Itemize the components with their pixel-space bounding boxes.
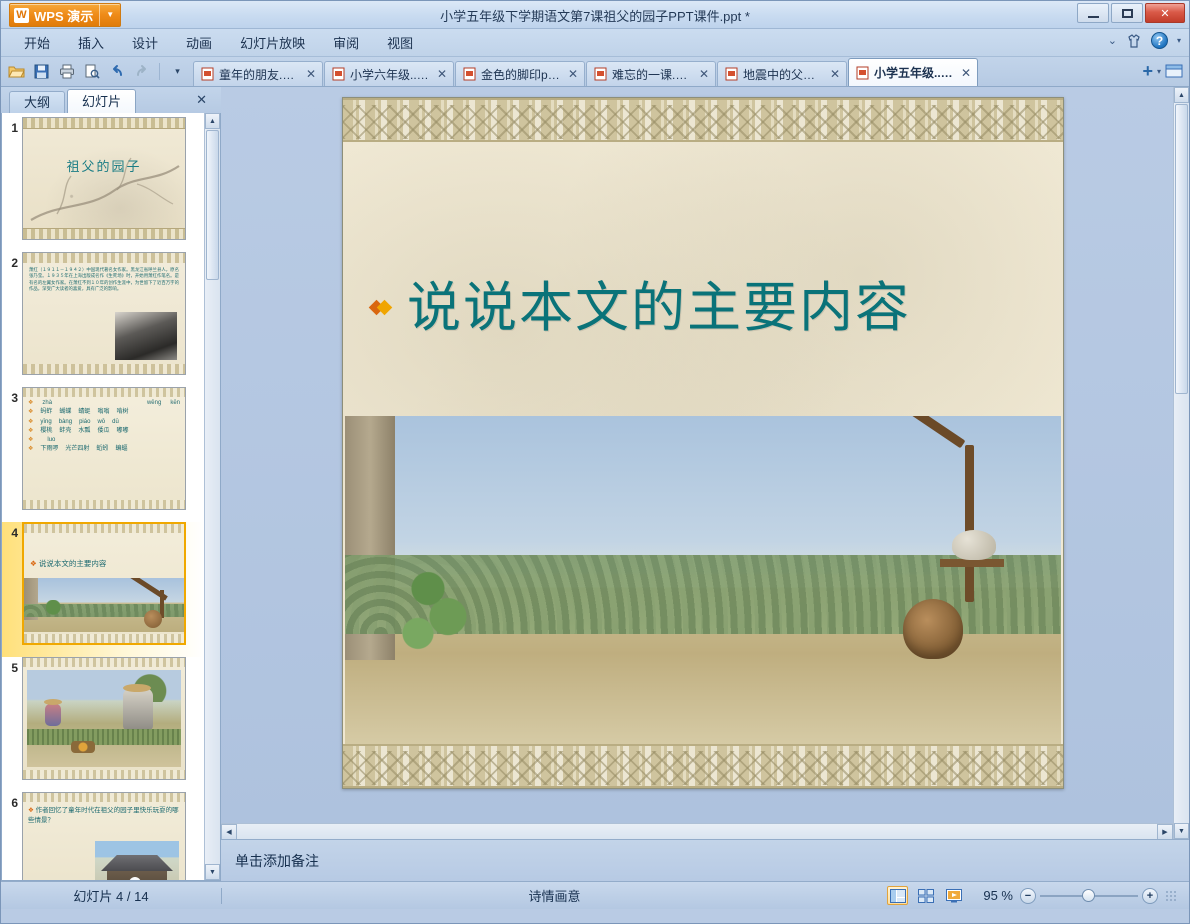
slides-panel: 大纲 幻灯片 ✕ 1	[1, 87, 221, 881]
title-bar: W WPS 演示 ▼ 小学五年级下学期语文第7课祖父的园子PPT课件.ppt *…	[1, 1, 1189, 29]
thumbnail-photo-house	[95, 841, 179, 881]
maximize-icon	[1122, 9, 1133, 18]
thumbnail-number: 6	[2, 792, 22, 810]
word-14: 蝙蝠	[115, 445, 127, 454]
tab-slides[interactable]: 幻灯片	[67, 89, 136, 113]
pinyin-2: wēng	[147, 399, 161, 408]
slide-editor-pane: 说说本文的主要内容	[221, 87, 1189, 881]
menu-bar: 开始 插入 设计 动画 幻灯片放映 审阅 视图 ⌄ ? ▾	[1, 29, 1189, 57]
slide-image-garden[interactable]	[345, 416, 1061, 746]
skin-shirt-icon[interactable]	[1126, 33, 1142, 49]
word-10: 嘟嘟	[116, 427, 128, 436]
thumbnail-preview-selected: ❖ 说说本文的主要内容	[22, 522, 186, 645]
doc-tab-close-icon[interactable]: ✕	[830, 67, 840, 81]
menu-item-insert[interactable]: 插入	[65, 29, 117, 56]
doc-tab-close-icon[interactable]: ✕	[961, 66, 971, 80]
thumbnail-body-text: 萧红（１９１１－１９４２）中国现代著名女作家。黑龙江省呼兰县人，原名张乃莹。１９…	[29, 267, 179, 293]
zoom-slider-knob[interactable]	[1082, 889, 1095, 902]
window-title: 小学五年级下学期语文第7课祖父的园子PPT课件.ppt *	[1, 6, 1189, 25]
thumbnail-slide-2[interactable]: 2 萧红（１９１１－１９４２）中国现代著名女作家。黑龙江省呼兰县人，原名张乃莹。…	[2, 252, 204, 387]
word-1: 蚂蚱	[40, 408, 52, 417]
clay-pot	[903, 599, 963, 659]
doc-tab-2[interactable]: 小学六年级...ppt * ✕	[324, 61, 454, 86]
menu-item-start[interactable]: 开始	[11, 29, 63, 56]
thumbnail-slide-6[interactable]: 6 ❖ 作者回忆了童年时代在祖父的园子里快乐玩耍的哪些情景？	[2, 792, 204, 881]
thumbnail-preview: 萧红（１９１１－１９４２）中国现代著名女作家。黑龙江省呼兰县人，原名张乃莹。１９…	[22, 252, 186, 375]
maximize-button[interactable]	[1111, 3, 1143, 23]
slide-thumbnail-list: 1 祖父的园子	[1, 113, 221, 881]
slide-title-placeholder[interactable]: 说说本文的主要内容	[371, 278, 1043, 337]
thumbnail-number: 5	[2, 657, 22, 675]
thumbnail-photo-farmer	[27, 670, 181, 767]
thumbnail-preview: ❖zhà wēng kēn ❖ 蚂蚱 蝴蝶 蜻蜓 嗡嗡	[22, 387, 186, 510]
undo-icon[interactable]	[106, 61, 127, 82]
word-5: 啃树	[116, 408, 128, 417]
thumbnail-title-text: 祖父的园子	[23, 156, 185, 175]
redo-icon[interactable]	[131, 61, 152, 82]
doc-tab-label: 地震中的父与....ppt *	[743, 66, 822, 83]
thumbnail-scrollbar[interactable]: ▲ ▼	[204, 113, 220, 880]
word-4: 嗡嗡	[97, 408, 109, 417]
thumbnail-question-text: 作者回忆了童年时代在祖父的园子里快乐玩耍的哪些情景？	[28, 807, 179, 824]
pinyin-9: luo	[47, 436, 55, 445]
ppt-file-icon	[856, 66, 869, 80]
window-list-icon[interactable]	[1165, 64, 1183, 78]
thumbnail-slide-4[interactable]: 4 ❖ 说说本文的主要内容	[2, 522, 204, 657]
resize-grip-icon[interactable]	[1165, 890, 1177, 902]
slide-scroll-down-icon[interactable]: ▼	[1174, 823, 1189, 839]
doc-tab-close-icon[interactable]: ✕	[437, 67, 447, 81]
word-11: 下雨啰	[40, 445, 58, 454]
tab-outline[interactable]: 大纲	[9, 91, 65, 113]
wooden-table	[940, 559, 1003, 567]
thumbnail-preview: ❖ 作者回忆了童年时代在祖父的园子里快乐玩耍的哪些情景？	[22, 792, 186, 881]
thumbnail-number: 1	[2, 117, 22, 135]
doc-tab-label: 金色的脚印p....ppt *	[481, 66, 560, 83]
notes-pane[interactable]: 单击添加备注	[221, 839, 1189, 881]
toolbar-separator	[159, 63, 160, 80]
slide-indicator: 幻灯片 4 / 14	[1, 886, 221, 905]
zoom-track[interactable]	[1036, 888, 1142, 904]
open-documents-tabs: 童年的朋友.ppt ✕ 小学六年级...ppt * ✕ 金色的脚印p....pp…	[193, 56, 1136, 86]
thumbnail-title-text: 说说本文的主要内容	[39, 559, 107, 568]
new-document-caret-icon[interactable]: ▾	[1157, 67, 1161, 76]
slide-scroll-up-icon[interactable]: ▲	[1174, 87, 1189, 103]
ribbon-collapse-icon[interactable]: ⌄	[1108, 34, 1117, 47]
thumbnail-preview	[22, 657, 186, 780]
ppt-file-icon	[332, 67, 345, 81]
theme-name: 诗情画意	[222, 886, 887, 905]
word-7: 蚌壳	[59, 427, 71, 436]
slide-sorter-button[interactable]	[915, 886, 936, 905]
pinyin-7: wō	[97, 418, 105, 427]
window-controls: ✕	[1077, 3, 1185, 23]
thumbnail-number: 4	[2, 522, 22, 540]
zoom-slider[interactable]: − +	[1020, 888, 1158, 904]
scrollbar-thumb[interactable]	[206, 130, 219, 280]
menu-item-review[interactable]: 审阅	[320, 29, 372, 56]
minimize-button[interactable]	[1077, 3, 1109, 23]
word-13: 蚯蚓	[96, 445, 108, 454]
open-icon[interactable]	[6, 61, 27, 82]
notes-placeholder[interactable]: 单击添加备注	[235, 851, 319, 871]
pinyin-1: zhà	[42, 399, 52, 408]
pinyin-6: piáo	[79, 418, 90, 427]
word-9: 倭瓜	[97, 427, 109, 436]
word-3: 蜻蜓	[78, 408, 90, 417]
print-icon[interactable]	[56, 61, 77, 82]
slide-title-text: 说说本文的主要内容	[407, 278, 911, 337]
thumbnail-number: 3	[2, 387, 22, 405]
doc-tab-label: 小学六年级...ppt *	[350, 66, 429, 83]
slide-vertical-scrollbar[interactable]: ▲ ▼	[1173, 87, 1189, 839]
minimize-icon	[1088, 16, 1099, 18]
word-2: 蝴蝶	[59, 408, 71, 417]
ppt-file-icon	[201, 67, 214, 81]
close-button[interactable]: ✕	[1145, 3, 1185, 23]
pinyin-5: bàng	[59, 418, 72, 427]
thumbnail-author-photo	[115, 312, 177, 360]
thumbnail-slide-5[interactable]: 5	[2, 657, 204, 792]
word-6: 樱桃	[40, 427, 52, 436]
slides-panel-tabs: 大纲 幻灯片 ✕	[1, 87, 221, 113]
thumbnail-slide-1[interactable]: 1 祖父的园子	[2, 117, 204, 252]
doc-tab-4[interactable]: 难忘的一课.ppt * ✕	[586, 61, 716, 86]
word-8: 水瓢	[78, 427, 90, 436]
status-right-controls: 95 % − +	[887, 886, 1189, 905]
menu-bar-right-controls: ⌄ ? ▾	[1108, 32, 1181, 49]
scroll-down-arrow-icon[interactable]: ▼	[205, 864, 220, 880]
slide-stage: 说说本文的主要内容	[221, 87, 1189, 839]
doc-tab-6-active[interactable]: 小学五年级...ppt * ✕	[848, 58, 978, 86]
diamond-bullet-icon	[371, 297, 393, 319]
greek-key-pattern-icon	[343, 751, 1063, 785]
kettle	[952, 530, 996, 560]
help-icon[interactable]: ?	[1151, 32, 1168, 49]
left-bush	[388, 555, 488, 667]
ppt-file-icon	[725, 67, 738, 81]
menu-item-animation[interactable]: 动画	[173, 29, 225, 56]
wooden-post	[965, 445, 974, 602]
thumbnail-scroll-content: 1 祖父的园子	[2, 113, 204, 880]
zoom-in-button[interactable]: +	[1142, 888, 1158, 904]
print-preview-icon[interactable]	[81, 61, 102, 82]
doc-tab-label: 小学五年级...ppt *	[874, 64, 953, 81]
thumbnail-number: 2	[2, 252, 22, 270]
pinyin-3: kēn	[170, 399, 180, 408]
doc-tab-label: 童年的朋友.ppt	[219, 66, 298, 83]
slide-scroll-right-icon[interactable]: ▶	[1157, 824, 1173, 840]
thumbnail-slide-3[interactable]: 3 ❖zhà wēng kēn ❖	[2, 387, 204, 522]
slide-top-border-band	[343, 98, 1063, 142]
save-icon[interactable]	[31, 61, 52, 82]
slide-horizontal-scrollbar[interactable]: ◀ ▶	[221, 823, 1173, 839]
doc-tab-1[interactable]: 童年的朋友.ppt ✕	[193, 61, 323, 86]
close-panel-icon[interactable]: ✕	[196, 92, 207, 108]
doc-tab-close-icon[interactable]: ✕	[306, 67, 316, 81]
slide-scroll-left-icon[interactable]: ◀	[221, 824, 237, 840]
wooden-beam	[880, 416, 965, 448]
new-document-button[interactable]: +	[1142, 62, 1153, 80]
customize-caret-icon[interactable]: ▾	[167, 61, 188, 82]
thumbnail-preview: 祖父的园子	[22, 117, 186, 240]
ppt-file-icon	[594, 67, 607, 81]
quick-access-toolbar: ▾	[1, 56, 193, 86]
pinyin-8: dū	[112, 418, 119, 427]
doc-tab-label: 难忘的一课.ppt *	[612, 66, 691, 83]
menu-item-view[interactable]: 视图	[374, 29, 426, 56]
scroll-up-arrow-icon[interactable]: ▲	[205, 113, 220, 129]
wps-presentation-window: W WPS 演示 ▼ 小学五年级下学期语文第7课祖父的园子PPT课件.ppt *…	[0, 0, 1190, 924]
start-slideshow-button[interactable]	[943, 886, 964, 905]
greek-key-pattern-icon	[343, 105, 1063, 139]
word-12: 光芒四射	[65, 445, 89, 454]
workspace: 大纲 幻灯片 ✕ 1	[1, 87, 1189, 881]
doc-tab-close-icon[interactable]: ✕	[568, 67, 578, 81]
tab-strip-right-controls: + ▾	[1136, 56, 1189, 86]
zoom-out-button[interactable]: −	[1020, 888, 1036, 904]
ppt-file-icon	[463, 67, 476, 81]
slide-bottom-border-band	[343, 744, 1063, 788]
current-slide[interactable]: 说说本文的主要内容	[342, 97, 1064, 789]
zoom-percent-label: 95 %	[971, 888, 1013, 903]
status-bar: 幻灯片 4 / 14 诗情画意 95 % − +	[1, 881, 1189, 909]
doc-tab-3[interactable]: 金色的脚印p....ppt * ✕	[455, 61, 585, 86]
document-tab-strip: ▾ 童年的朋友.ppt ✕ 小学六年级...ppt * ✕ 金色的脚印p....…	[1, 57, 1189, 87]
menu-item-design[interactable]: 设计	[119, 29, 171, 56]
well-and-pot	[818, 426, 1004, 664]
doc-tab-close-icon[interactable]: ✕	[699, 67, 709, 81]
doc-tab-5[interactable]: 地震中的父与....ppt * ✕	[717, 61, 847, 86]
normal-view-button[interactable]	[887, 886, 908, 905]
pinyin-4: yīng	[40, 418, 51, 427]
slide-scrollbar-thumb[interactable]	[1175, 104, 1188, 394]
help-caret-icon[interactable]: ▾	[1177, 36, 1181, 45]
menu-item-slideshow[interactable]: 幻灯片放映	[227, 29, 318, 56]
